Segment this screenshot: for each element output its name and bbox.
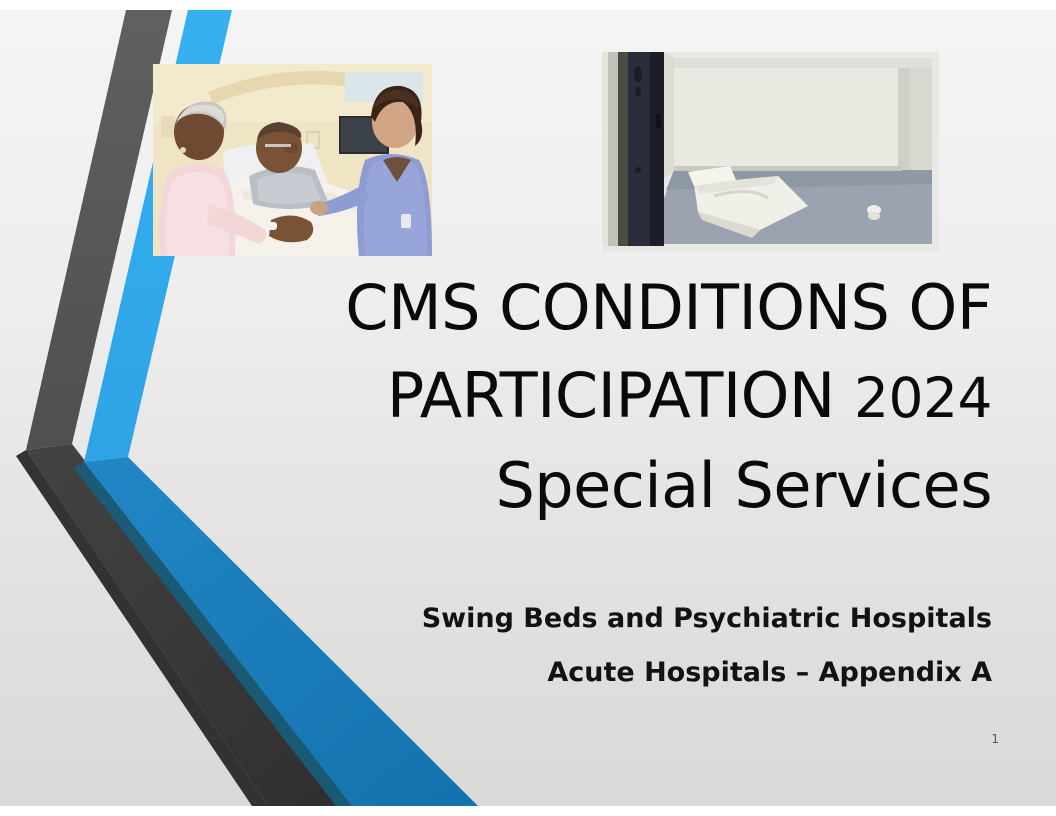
slide-title: CMS CONDITIONS OF PARTICIPATION 2024 Spe… — [300, 264, 992, 530]
slide-subtitle-line-2: Acute Hospitals – Appendix A — [300, 646, 992, 700]
seclusion-room-photo-art — [602, 52, 939, 252]
hospital-patient-photo-art — [153, 64, 432, 256]
slide-title-line-1: CMS CONDITIONS OF — [300, 264, 992, 352]
presentation-slide: CMS CONDITIONS OF PARTICIPATION 2024 Spe… — [0, 0, 1056, 816]
seclusion-room-photo — [602, 52, 939, 252]
slide-title-line-3: Special Services — [300, 442, 992, 530]
slide-title-year: 2024 — [854, 366, 992, 430]
slide-title-line-2-text: PARTICIPATION — [387, 359, 854, 432]
slide-subtitle-line-1: Swing Beds and Psychiatric Hospitals — [300, 592, 992, 646]
slide-text-column: CMS CONDITIONS OF PARTICIPATION 2024 Spe… — [300, 264, 992, 700]
hospital-patient-photo — [153, 64, 432, 256]
slide-subtitle: Swing Beds and Psychiatric Hospitals Acu… — [300, 592, 992, 700]
slide-title-line-2: PARTICIPATION 2024 — [300, 352, 992, 442]
slide-page-number: 1 — [991, 732, 999, 746]
slide-canvas: CMS CONDITIONS OF PARTICIPATION 2024 Spe… — [0, 10, 1056, 806]
